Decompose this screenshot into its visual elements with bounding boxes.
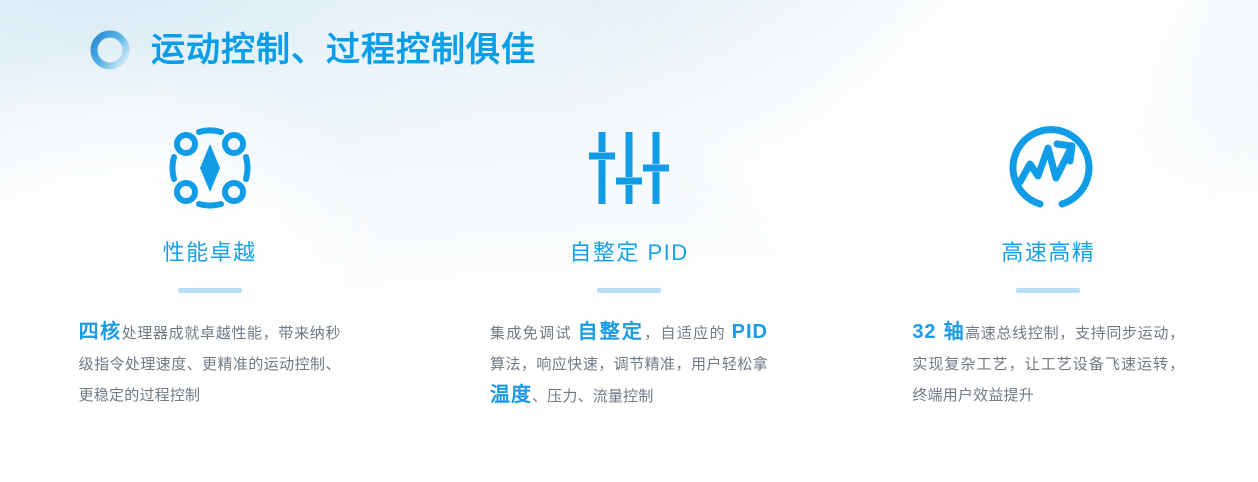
feature-title: 自整定 PID xyxy=(569,242,688,264)
highlight-text: 温度 xyxy=(490,384,532,406)
quad-core-processor-icon xyxy=(164,118,256,218)
feature-divider xyxy=(1016,288,1080,293)
body-text: 算法，响应快速，调节精准，用户轻松拿 xyxy=(490,356,768,373)
feature-description: 四核处理器成就卓越性能，带来纳秒级指令处理速度、更精准的运动控制、更稳定的过程控… xyxy=(79,317,341,411)
ring-icon xyxy=(88,28,132,72)
body-text: ，自适应的 xyxy=(644,325,732,342)
feature-description: 32 轴高速总线控制，支持同步运动，实现复杂工艺，让工艺设备飞速运转，终端用户效… xyxy=(912,317,1184,411)
feature-divider xyxy=(178,288,242,293)
feature-description: 集成免调试 自整定，自适应的 PID 算法，响应快速，调节精准，用户轻松拿 温度… xyxy=(490,317,768,412)
body-text: 集成免调试 xyxy=(490,325,578,342)
body-text: 、压力、流量控制 xyxy=(532,388,654,405)
sliders-equalizer-icon xyxy=(583,118,675,218)
highlight-text: 四核 xyxy=(79,321,122,343)
feature-columns: 性能卓越 四核处理器成就卓越性能，带来纳秒级指令处理速度、更精准的运动控制、更稳… xyxy=(0,118,1258,412)
feature-card-pid: 自整定 PID 集成免调试 自整定，自适应的 PID 算法，响应快速，调节精准，… xyxy=(419,118,838,412)
highlight-text: PID xyxy=(732,321,768,343)
feature-divider xyxy=(597,288,661,293)
highlight-text: 32 轴 xyxy=(912,321,965,343)
trending-up-chart-icon xyxy=(1000,118,1096,218)
feature-title: 高速高精 xyxy=(1001,242,1095,264)
feature-title: 性能卓越 xyxy=(163,242,257,264)
section-header: 运动控制、过程控制俱佳 xyxy=(88,28,536,72)
feature-card-performance: 性能卓越 四核处理器成就卓越性能，带来纳秒级指令处理速度、更精准的运动控制、更稳… xyxy=(0,118,419,412)
page-title: 运动控制、过程控制俱佳 xyxy=(151,33,536,67)
highlight-text: 自整定 xyxy=(578,321,645,343)
feature-card-speed: 高速高精 32 轴高速总线控制，支持同步运动，实现复杂工艺，让工艺设备飞速运转，… xyxy=(839,118,1258,412)
feature-section: 运动控制、过程控制俱佳 xyxy=(0,0,1258,482)
